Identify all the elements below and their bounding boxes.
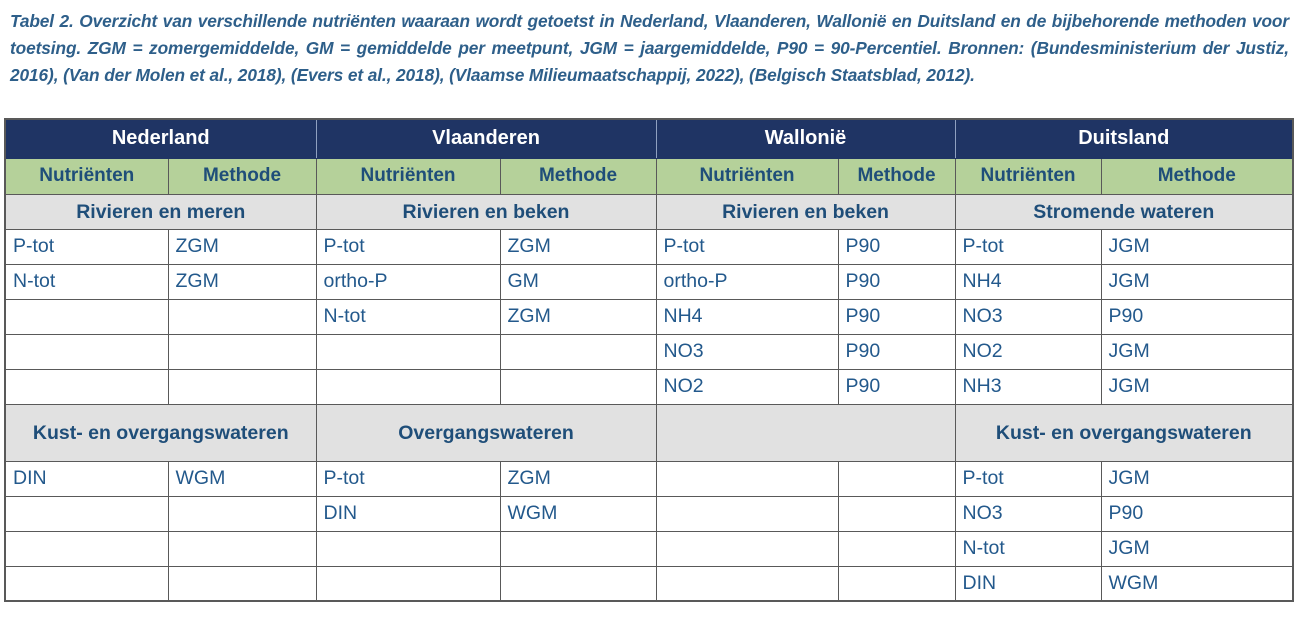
cell-vl-nutrient: P-tot (316, 229, 500, 264)
cell-de-methode: JGM (1101, 531, 1293, 566)
section2-title-vlaanderen: Overgangswateren (316, 404, 656, 461)
cell-vl-nutrient: DIN (316, 496, 500, 531)
cell-wa-nutrient (656, 496, 838, 531)
country-header-vlaanderen: Vlaanderen (316, 119, 656, 158)
table-row: DIN WGM P-tot ZGM P-tot JGM (5, 461, 1293, 496)
cell-vl-nutrient: P-tot (316, 461, 500, 496)
caption-text: Tabel 2. Overzicht van verschillende nut… (10, 11, 1289, 85)
cell-nl-nutrient: DIN (5, 461, 168, 496)
table-caption: Tabel 2. Overzicht van verschillende nut… (0, 0, 1299, 89)
cell-nl-methode: ZGM (168, 264, 316, 299)
cell-vl-nutrient: ortho-P (316, 264, 500, 299)
section2-title-duitsland: Kust- en overgangswateren (955, 404, 1293, 461)
cell-nl-methode (168, 334, 316, 369)
cell-de-methode: JGM (1101, 229, 1293, 264)
country-header-wallonie: Wallonië (656, 119, 955, 158)
cell-nl-nutrient: P-tot (5, 229, 168, 264)
cell-vl-methode (500, 566, 656, 601)
cell-vl-methode: ZGM (500, 461, 656, 496)
subheader-methode-vl: Methode (500, 158, 656, 194)
subheader-nutrienten-wa: Nutriënten (656, 158, 838, 194)
cell-wa-methode (838, 531, 955, 566)
cell-vl-methode: ZGM (500, 229, 656, 264)
cell-wa-methode (838, 566, 955, 601)
subheader-methode-wa: Methode (838, 158, 955, 194)
cell-de-methode: WGM (1101, 566, 1293, 601)
country-header-row: Nederland Vlaanderen Wallonië Duitsland (5, 119, 1293, 158)
section1-title-duitsland: Stromende wateren (955, 194, 1293, 229)
cell-wa-methode: P90 (838, 334, 955, 369)
cell-de-nutrient: P-tot (955, 461, 1101, 496)
table-row: NO2 P90 NH3 JGM (5, 369, 1293, 404)
cell-de-nutrient: NO2 (955, 334, 1101, 369)
table-row: DIN WGM (5, 566, 1293, 601)
subheader-nutrienten-vl: Nutriënten (316, 158, 500, 194)
cell-vl-nutrient (316, 334, 500, 369)
cell-wa-methode (838, 461, 955, 496)
table-row: NO3 P90 NO2 JGM (5, 334, 1293, 369)
cell-nl-methode (168, 369, 316, 404)
cell-de-nutrient: DIN (955, 566, 1101, 601)
cell-wa-methode (838, 496, 955, 531)
cell-wa-nutrient (656, 461, 838, 496)
section2-title-nederland: Kust- en overgangswateren (5, 404, 316, 461)
cell-wa-nutrient: NO2 (656, 369, 838, 404)
cell-vl-methode (500, 334, 656, 369)
cell-vl-methode (500, 369, 656, 404)
cell-de-nutrient: NO3 (955, 496, 1101, 531)
cell-vl-methode (500, 531, 656, 566)
cell-de-nutrient: NO3 (955, 299, 1101, 334)
country-header-nederland: Nederland (5, 119, 316, 158)
table-row: P-tot ZGM P-tot ZGM P-tot P90 P-tot JGM (5, 229, 1293, 264)
cell-de-methode: P90 (1101, 299, 1293, 334)
cell-wa-methode: P90 (838, 299, 955, 334)
cell-wa-nutrient: NH4 (656, 299, 838, 334)
cell-wa-methode: P90 (838, 369, 955, 404)
cell-nl-nutrient (5, 531, 168, 566)
cell-vl-methode: ZGM (500, 299, 656, 334)
cell-nl-methode: WGM (168, 461, 316, 496)
cell-vl-nutrient (316, 566, 500, 601)
cell-nl-nutrient (5, 369, 168, 404)
cell-de-methode: JGM (1101, 461, 1293, 496)
cell-wa-nutrient: NO3 (656, 334, 838, 369)
cell-wa-nutrient: ortho-P (656, 264, 838, 299)
section2-title-wallonie (656, 404, 955, 461)
cell-wa-methode: P90 (838, 229, 955, 264)
section1-title-row: Rivieren en meren Rivieren en beken Rivi… (5, 194, 1293, 229)
cell-de-methode: P90 (1101, 496, 1293, 531)
nutrients-table-wrapper: Nederland Vlaanderen Wallonië Duitsland … (4, 118, 1292, 602)
cell-de-nutrient: NH3 (955, 369, 1101, 404)
cell-nl-methode (168, 299, 316, 334)
cell-nl-nutrient (5, 496, 168, 531)
cell-nl-methode (168, 566, 316, 601)
cell-wa-nutrient (656, 566, 838, 601)
section2-title-row: Kust- en overgangswateren Overgangswater… (5, 404, 1293, 461)
cell-nl-nutrient: N-tot (5, 264, 168, 299)
cell-nl-nutrient (5, 334, 168, 369)
cell-nl-nutrient (5, 566, 168, 601)
cell-de-nutrient: NH4 (955, 264, 1101, 299)
table-row: DIN WGM NO3 P90 (5, 496, 1293, 531)
cell-de-methode: JGM (1101, 369, 1293, 404)
cell-wa-nutrient: P-tot (656, 229, 838, 264)
nutrients-table: Nederland Vlaanderen Wallonië Duitsland … (4, 118, 1294, 602)
column-subheader-row: Nutriënten Methode Nutriënten Methode Nu… (5, 158, 1293, 194)
cell-vl-nutrient (316, 369, 500, 404)
cell-nl-methode (168, 531, 316, 566)
subheader-methode-nl: Methode (168, 158, 316, 194)
section1-title-vlaanderen: Rivieren en beken (316, 194, 656, 229)
cell-nl-methode: ZGM (168, 229, 316, 264)
cell-vl-nutrient: N-tot (316, 299, 500, 334)
cell-de-methode: JGM (1101, 264, 1293, 299)
cell-de-methode: JGM (1101, 334, 1293, 369)
subheader-methode-de: Methode (1101, 158, 1293, 194)
cell-de-nutrient: N-tot (955, 531, 1101, 566)
subheader-nutrienten-de: Nutriënten (955, 158, 1101, 194)
table-row: N-tot JGM (5, 531, 1293, 566)
table-page: Tabel 2. Overzicht van verschillende nut… (0, 0, 1299, 625)
section1-title-wallonie: Rivieren en beken (656, 194, 955, 229)
table-row: N-tot ZGM NH4 P90 NO3 P90 (5, 299, 1293, 334)
cell-de-nutrient: P-tot (955, 229, 1101, 264)
cell-wa-nutrient (656, 531, 838, 566)
table-row: N-tot ZGM ortho-P GM ortho-P P90 NH4 JGM (5, 264, 1293, 299)
cell-nl-methode (168, 496, 316, 531)
cell-vl-nutrient (316, 531, 500, 566)
section1-title-nederland: Rivieren en meren (5, 194, 316, 229)
cell-vl-methode: GM (500, 264, 656, 299)
country-header-duitsland: Duitsland (955, 119, 1293, 158)
cell-nl-nutrient (5, 299, 168, 334)
subheader-nutrienten-nl: Nutriënten (5, 158, 168, 194)
cell-wa-methode: P90 (838, 264, 955, 299)
cell-vl-methode: WGM (500, 496, 656, 531)
